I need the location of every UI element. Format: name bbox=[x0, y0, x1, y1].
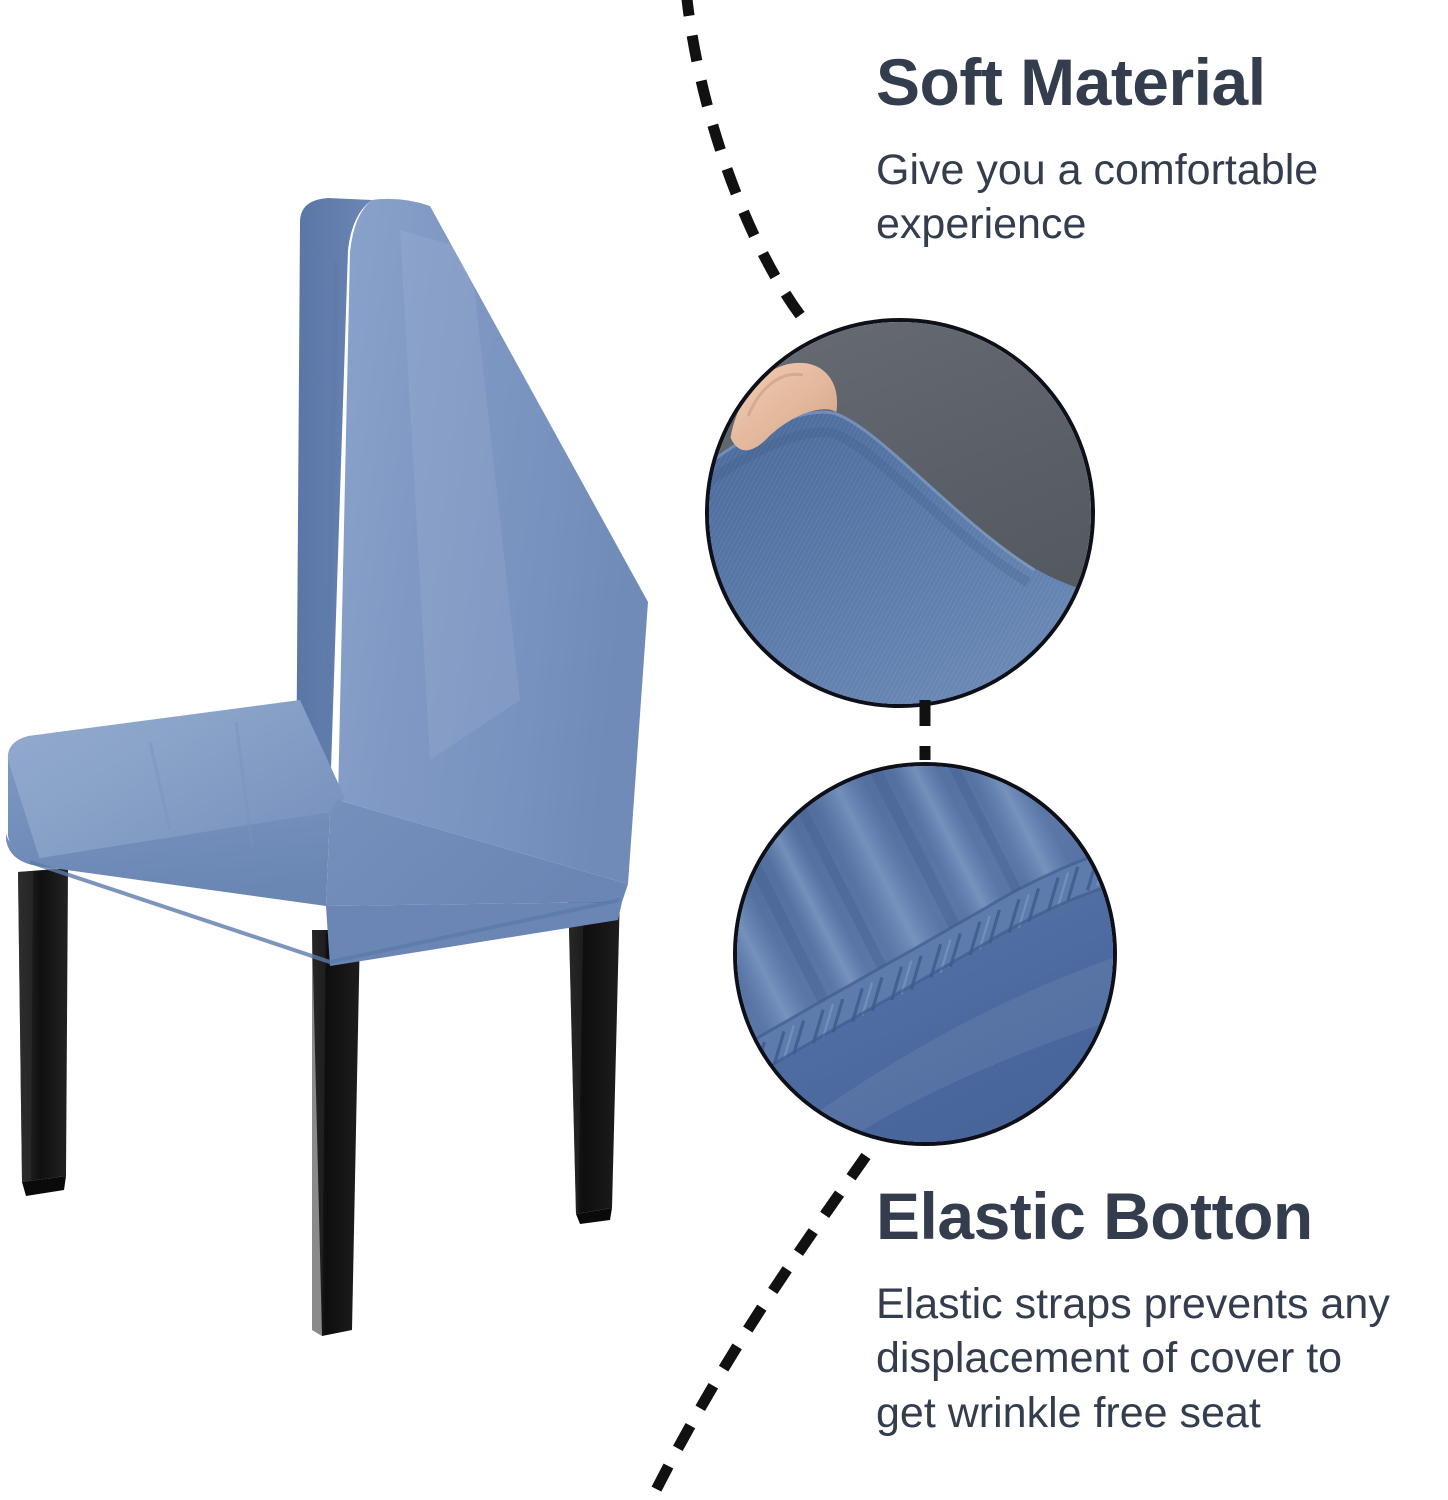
feature-description-soft-material-line-1: Give you a comfortable bbox=[876, 143, 1436, 197]
feature-description-soft-material-line-2: experience bbox=[876, 197, 1436, 251]
feature-description-elastic-bottom-line-2: displacement of cover to bbox=[876, 1331, 1442, 1385]
elastic-hem-icon bbox=[737, 766, 1113, 1142]
feature-title-elastic-bottom: Elastic Botton bbox=[876, 1182, 1442, 1251]
elastic-hem-detail-circle bbox=[733, 762, 1117, 1146]
chair-leg-back-right bbox=[568, 888, 620, 1224]
feature-soft-material: Soft Material Give you a comfortable exp… bbox=[876, 48, 1436, 252]
chair-leg-back-left bbox=[312, 930, 360, 1336]
guide-curve-main bbox=[686, 0, 812, 330]
feature-elastic-bottom: Elastic Botton Elastic straps prevents a… bbox=[876, 1182, 1442, 1440]
pinched-fabric-icon bbox=[709, 322, 1091, 704]
fabric-stretch-detail-circle bbox=[705, 318, 1095, 708]
product-infographic: Soft Material Give you a comfortable exp… bbox=[0, 0, 1448, 1500]
chair-illustration bbox=[0, 0, 700, 1400]
feature-title-soft-material: Soft Material bbox=[876, 48, 1436, 117]
feature-description-elastic-bottom-line-3: get wrinkle free seat bbox=[876, 1386, 1442, 1440]
chair-leg-front-left bbox=[18, 868, 68, 1196]
feature-description-elastic-bottom-line-1: Elastic straps prevents any bbox=[876, 1277, 1442, 1331]
